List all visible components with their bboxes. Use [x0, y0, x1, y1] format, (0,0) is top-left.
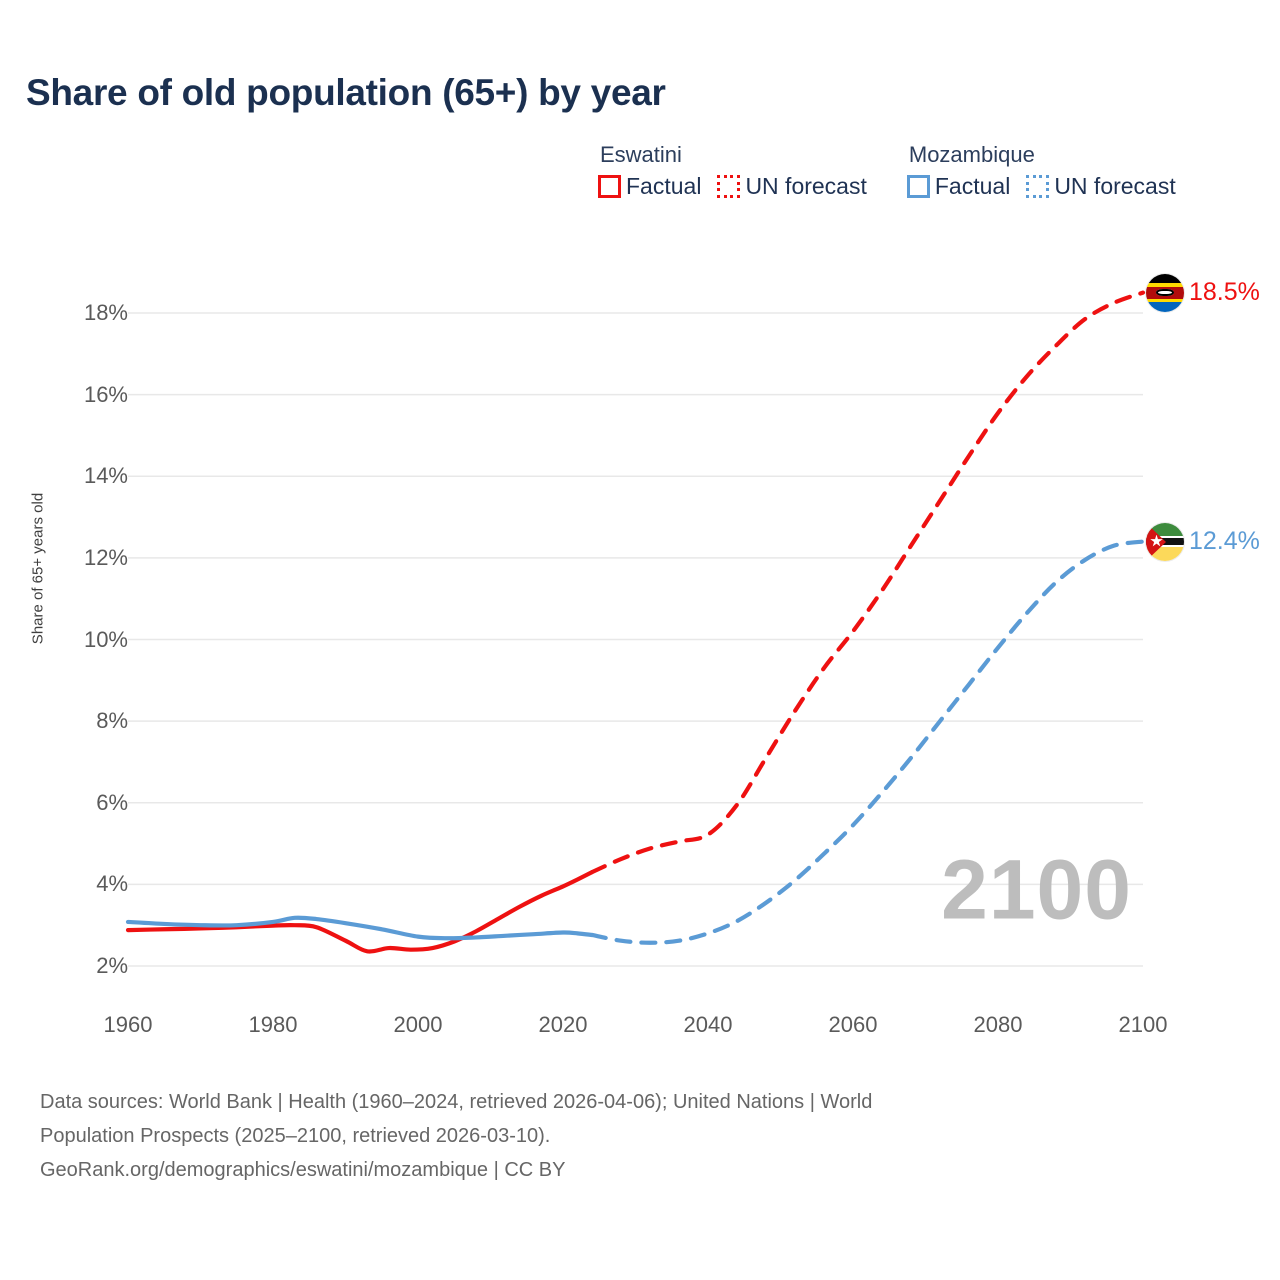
footer-sources: Data sources: World Bank | Health (1960–…	[40, 1085, 1200, 1187]
footer-line-1: Data sources: World Bank | Health (1960–…	[40, 1085, 1200, 1119]
end-label-mozambique: 12.4%	[1146, 523, 1260, 561]
eswatini-flag-icon	[1146, 274, 1184, 312]
line-mozambique-forecast	[592, 542, 1143, 943]
footer-line-2: Population Prospects (2025–2100, retriev…	[40, 1119, 1200, 1153]
plot-area: Share of 65+ years old 2%4%6%8%10%12%14%…	[0, 0, 1280, 1060]
chart-page: Share of old population (65+) by year Es…	[0, 0, 1280, 1280]
end-value-mozambique: 12.4%	[1189, 527, 1260, 556]
chart-canvas	[0, 0, 1280, 1060]
line-eswatini-forecast	[592, 293, 1143, 873]
end-value-eswatini: 18.5%	[1189, 278, 1260, 307]
footer-line-3: GeoRank.org/demographics/eswatini/mozamb…	[40, 1153, 1200, 1187]
mozambique-flag-icon	[1146, 523, 1184, 561]
end-label-eswatini: 18.5%	[1146, 274, 1260, 312]
